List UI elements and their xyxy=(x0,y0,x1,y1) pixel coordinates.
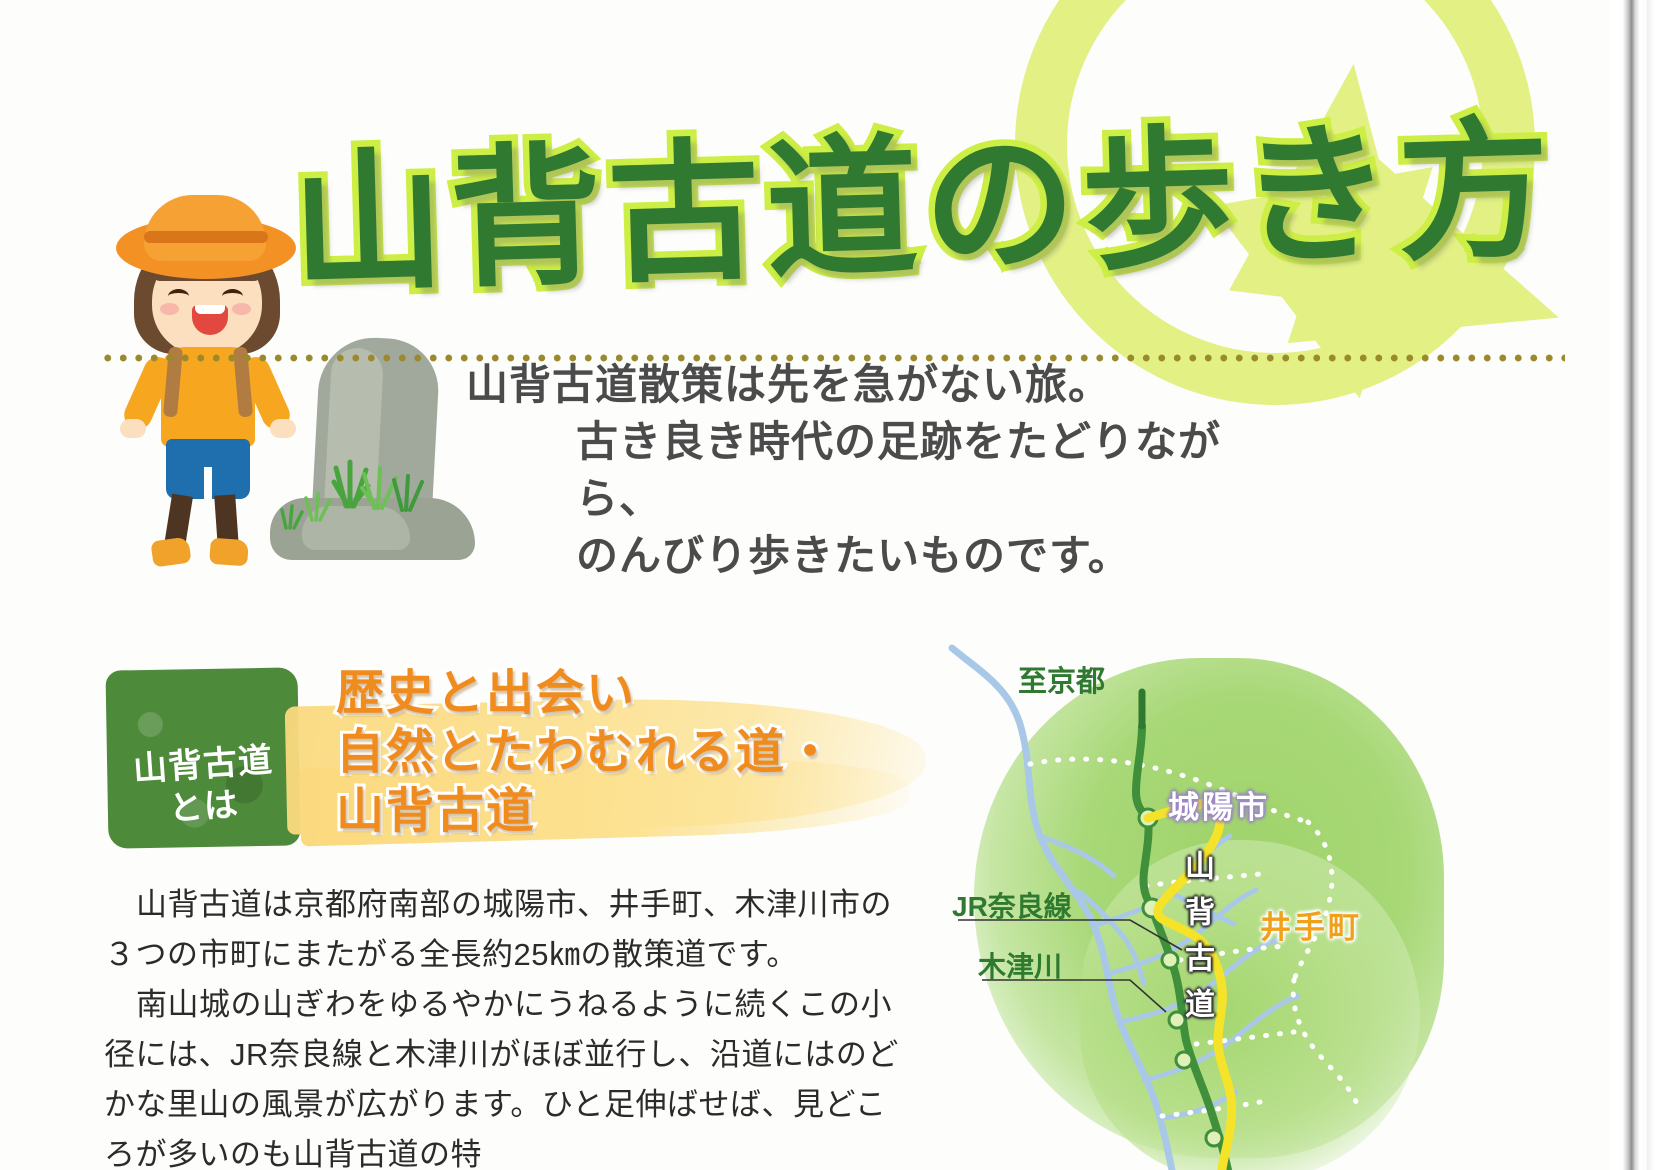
badge-label-line-2: とは xyxy=(167,784,240,831)
eye-right xyxy=(222,289,243,304)
hat-band xyxy=(144,231,268,243)
tagline-line-2: 古き良き時代の足跡をたどりながら、 xyxy=(466,413,1286,527)
tagline-line-1: 山背古道散策は先を急がない旅。 xyxy=(466,356,1286,413)
section-heading: 歴史と出会い 自然とたわむれる道・ 山背古道 xyxy=(336,664,976,841)
section-heading-line-1: 歴史と出会い xyxy=(336,664,976,723)
boot-left xyxy=(150,536,191,567)
map-label-jr-nara-line: JR奈良線 xyxy=(952,885,1072,925)
hand-left xyxy=(120,419,146,438)
body-paragraph-1: 山背古道は京都府南部の城陽市、井手町、木津川市の３つの市町にまたがる全長約25㎞… xyxy=(104,880,916,980)
section-badge: 山背古道 とは xyxy=(109,670,298,845)
stone-monument-illustration xyxy=(250,330,500,565)
brochure-page: 山背古道の歩き方 xyxy=(0,0,1655,1170)
map-label-kizugawa: 木津川 xyxy=(978,945,1062,985)
grass-tufts-icon xyxy=(250,330,500,565)
shorts xyxy=(166,439,250,499)
section-heading-line-3: 山背古道 xyxy=(336,782,976,841)
hat-crown xyxy=(144,195,266,261)
body-paragraph-2: 南山城の山ぎわをゆるやかにうねるように続くこの小径には、JR奈良線と木津川がほぼ… xyxy=(104,980,916,1170)
tagline-line-3: のんびり歩きたいものです。 xyxy=(466,527,1286,584)
scan-edge-highlight xyxy=(1647,0,1655,1170)
map-label-ide-town: 井手町 xyxy=(1260,902,1362,947)
cheek-right xyxy=(232,303,251,315)
body-text: 山背古道は京都府南部の城陽市、井手町、木津川市の３つの市町にまたがる全長約25㎞… xyxy=(104,880,916,1170)
eye-left xyxy=(168,289,189,304)
map-label-yamashiro-kodo: 山背古道 xyxy=(1174,850,1218,1034)
badge-label-line-1: 山背古道 xyxy=(132,739,275,791)
map-label-joyo-city: 城陽市 xyxy=(1168,782,1270,827)
tagline-block: 山背古道散策は先を急がない旅。 古き良き時代の足跡をたどりながら、 のんびり歩き… xyxy=(466,356,1286,584)
section-heading-line-2: 自然とたわむれる道・ xyxy=(336,723,976,782)
boot-right xyxy=(209,538,249,567)
cheek-left xyxy=(160,303,179,315)
area-map: 至京都 JR奈良線 木津川 城陽市 井手町 山背古道 xyxy=(930,640,1490,1170)
map-label-to-kyoto: 至京都 xyxy=(1018,658,1105,700)
page-title: 山背古道の歩き方 xyxy=(289,88,1455,340)
